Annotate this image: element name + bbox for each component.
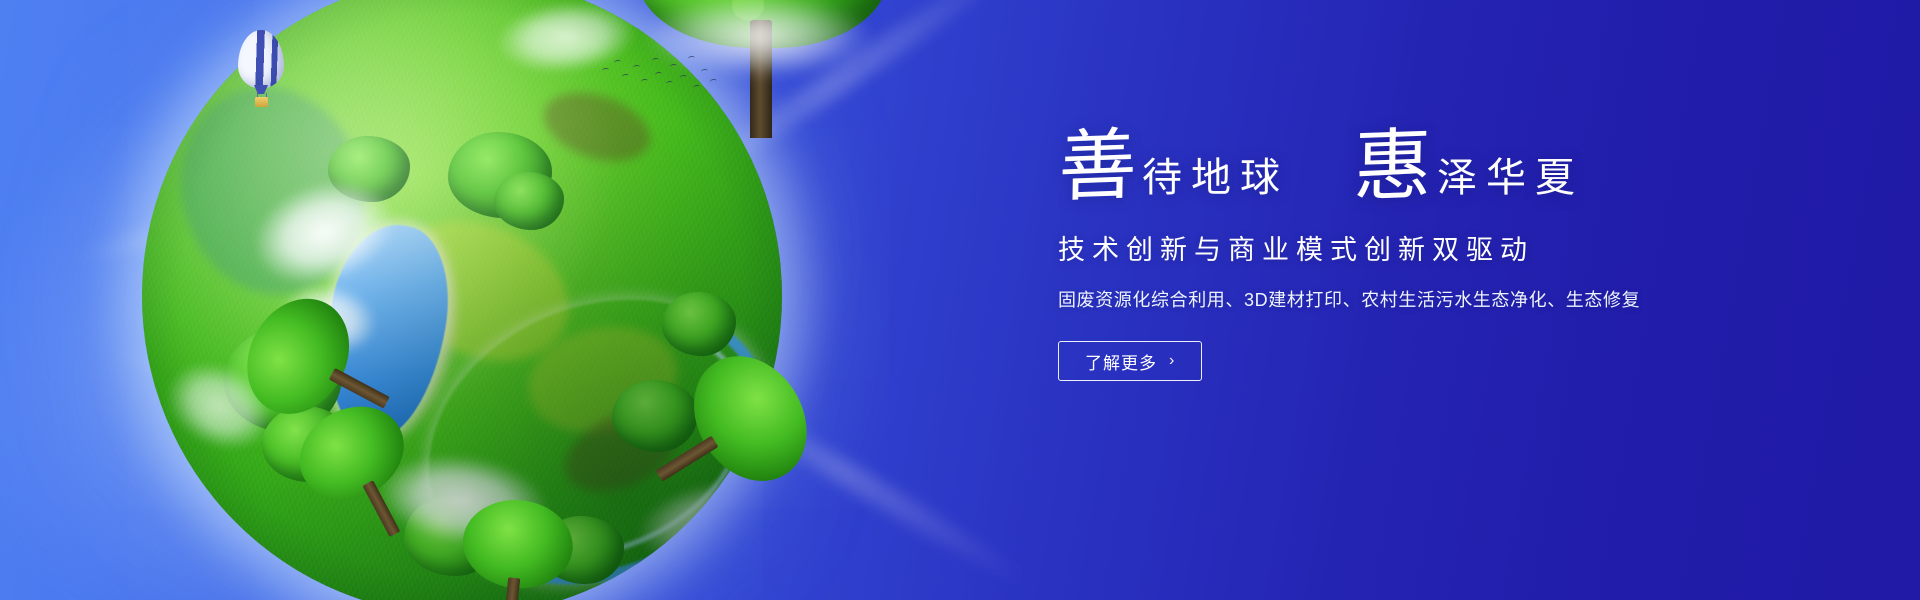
learn-more-button[interactable]: 了解更多 › (1058, 341, 1202, 381)
tree-trunk (656, 436, 719, 482)
headline-char-hui: 惠 (1353, 129, 1438, 204)
hot-air-balloon-icon (238, 30, 284, 108)
chevron-right-icon: › (1169, 353, 1175, 369)
banner-copy: 善 待地球 惠 泽华夏 技术创新与商业模式创新双驱动 固废资源化综合利用、3D建… (1058, 132, 1838, 381)
tree-trunk (362, 480, 400, 537)
headline: 善 待地球 惠 泽华夏 (1058, 132, 1838, 204)
hero-banner: 善 待地球 惠 泽华夏 技术创新与商业模式创新双驱动 固废资源化综合利用、3D建… (0, 0, 1920, 600)
headline-text-daidiqiu: 待地球 (1142, 158, 1289, 204)
learn-more-label: 了解更多 (1085, 349, 1157, 374)
tree-icon (453, 495, 577, 600)
description: 固废资源化综合利用、3D建材打印、农村生活污水生态净化、生态修复 (1058, 288, 1838, 313)
headline-char-shan: 善 (1058, 129, 1143, 204)
bird-flock-icon (600, 52, 720, 98)
headline-text-zehuaxia: 泽华夏 (1437, 158, 1584, 204)
balloon-basket (255, 97, 268, 107)
balloon-envelope (238, 30, 284, 88)
subtitle: 技术创新与商业模式创新双驱动 (1058, 234, 1838, 266)
